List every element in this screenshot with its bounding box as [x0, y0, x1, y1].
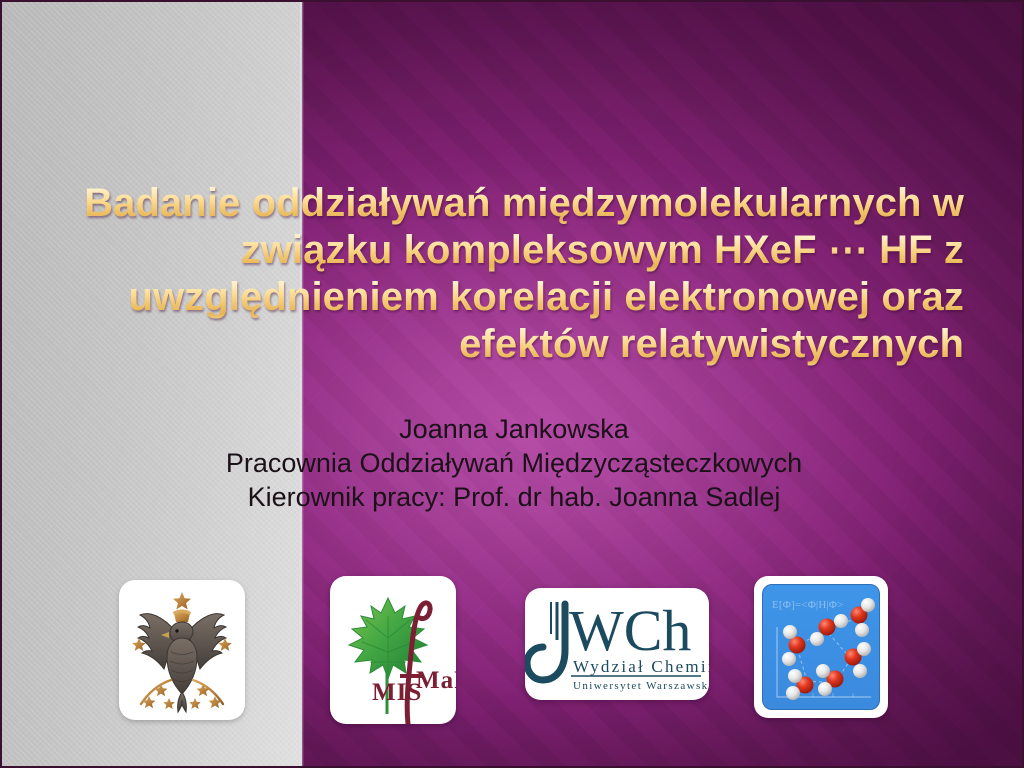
slide-title: Badanie oddziaływań międzymolekularnych …: [64, 180, 964, 368]
svg-text:MIS: MIS: [372, 679, 422, 706]
logo-card-mismap: MIS MaP: [330, 576, 456, 724]
subtitle-author: Joanna Jankowska: [64, 412, 964, 446]
title-line-1: Badanie oddziaływań międzymolekularnych …: [64, 180, 964, 227]
faculty-of-chemistry-logo-icon: WCh Wydział Chemii Uniwersytet Warszawsk…: [525, 588, 709, 700]
svg-text:MaP: MaP: [416, 667, 456, 694]
title-slide: Badanie oddziaływań międzymolekularnych …: [0, 0, 1024, 768]
title-line-3: uwzględnieniem korelacji elektronowej or…: [64, 274, 964, 321]
svg-text:Wydział Chemii: Wydział Chemii: [573, 657, 709, 676]
logo-card-university-of-warsaw: [119, 580, 245, 720]
water-cluster-molecule-icon: E[Φ]=<Φ|H|Φ>: [762, 584, 880, 710]
molecule-formula-label: E[Φ]=<Φ|H|Φ>: [772, 599, 844, 611]
mismap-logo-icon: MIS MaP: [330, 576, 456, 724]
subtitle-supervisor: Kierownik pracy: Prof. dr hab. Joanna Sa…: [64, 480, 964, 514]
title-line-2: związku kompleksowym HXeF ⋯ HF z: [64, 227, 964, 274]
logo-row: MIS MaP WCh Wydział Chemii: [2, 572, 1024, 727]
svg-text:WCh: WCh: [569, 598, 691, 663]
subtitle-department: Pracownia Oddziaływań Międzycząsteczkowy…: [64, 446, 964, 480]
logo-card-faculty-of-chemistry: WCh Wydział Chemii Uniwersytet Warszawsk…: [525, 588, 709, 700]
svg-text:Uniwersytet Warszawski: Uniwersytet Warszawski: [573, 680, 709, 692]
title-line-4: efektów relatywistycznych: [64, 321, 964, 368]
slide-subtitle: Joanna Jankowska Pracownia Oddziaływań M…: [64, 412, 964, 514]
university-of-warsaw-eagle-icon: [119, 580, 245, 720]
logo-card-molecule-graphic: E[Φ]=<Φ|H|Φ>: [754, 576, 888, 718]
